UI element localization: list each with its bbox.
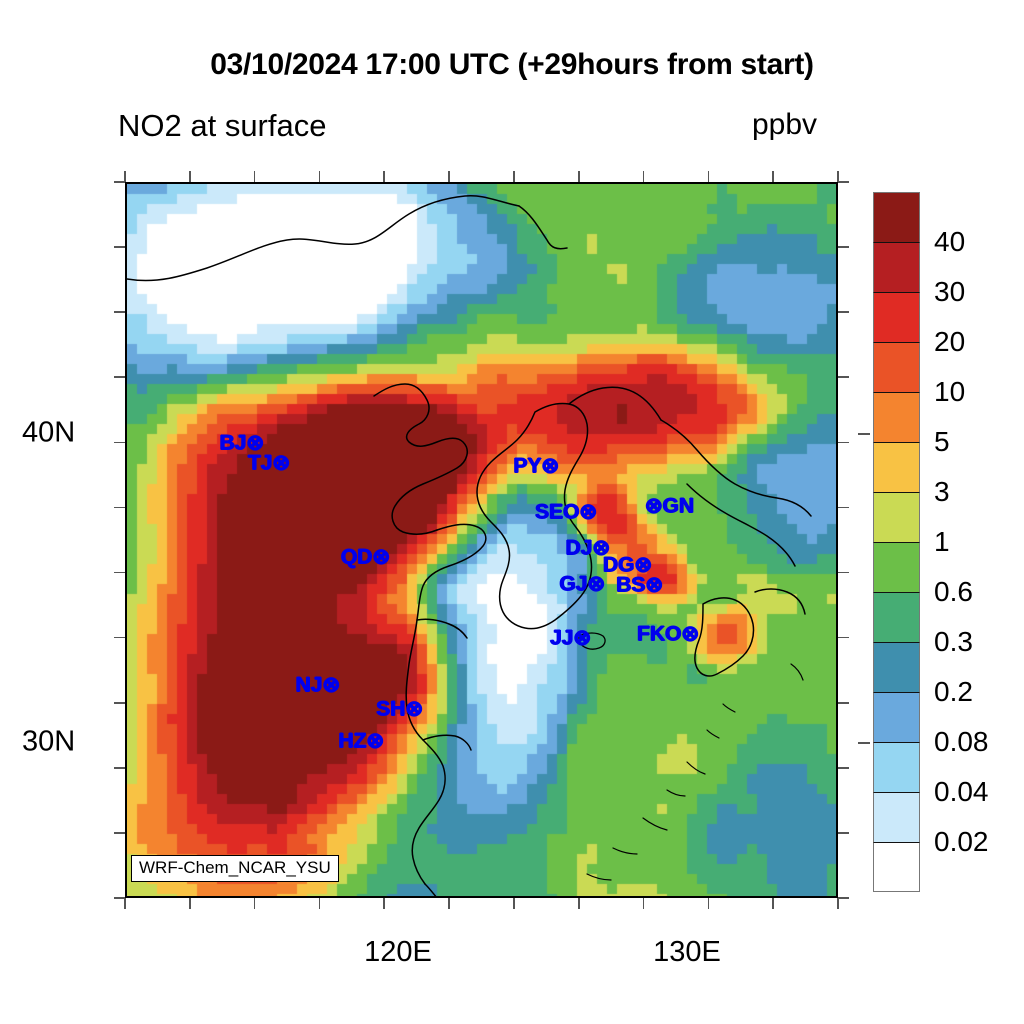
lon-tick <box>513 898 515 909</box>
city-marker-gj: GJ⊗ <box>559 574 605 595</box>
lat-tick-right <box>838 181 849 183</box>
lat-tick <box>114 637 125 639</box>
city-marker-qd: QD⊗ <box>341 547 390 568</box>
colorbar-side-tick <box>858 742 870 744</box>
colorbar-label: 0.02 <box>934 826 989 858</box>
lat-tick-right <box>838 572 849 574</box>
colorbar-band <box>873 692 920 742</box>
colorbar-label: 0.04 <box>934 776 989 808</box>
colorbar-label: 0.6 <box>934 576 973 608</box>
lon-tick-top <box>383 171 385 182</box>
lat-tick <box>114 311 125 313</box>
city-marker-jj: JJ⊗ <box>550 628 591 649</box>
lon-tick <box>772 898 774 909</box>
lat-tick <box>114 897 125 899</box>
colorbar-label: 30 <box>934 276 965 308</box>
city-marker-seo: SEO⊗ <box>535 502 597 523</box>
model-watermark: WRF-Chem_NCAR_YSU <box>131 855 339 882</box>
colorbar-label: 3 <box>934 476 950 508</box>
city-marker-tj: TJ⊗ <box>248 453 290 474</box>
lat-tick <box>114 181 125 183</box>
colorbar-label: 40 <box>934 226 965 258</box>
lat-tick <box>114 442 125 444</box>
colorbar-band <box>873 192 920 242</box>
lat-tick-right <box>838 897 849 899</box>
lat-tick <box>114 572 125 574</box>
lat-tick-right <box>838 767 849 769</box>
colorbar-band <box>873 242 920 292</box>
lon-tick-top <box>319 171 321 182</box>
lon-tick <box>643 898 645 909</box>
lat-tick-right <box>838 376 849 378</box>
lat-tick <box>114 767 125 769</box>
colorbar-label: 0.08 <box>934 726 989 758</box>
colorbar-band <box>873 742 920 792</box>
lon-tick-top <box>189 171 191 182</box>
colorbar-band <box>873 442 920 492</box>
units-label: ppbv <box>752 108 817 142</box>
city-marker-dg: DG⊗ <box>603 555 652 576</box>
colorbar-band <box>873 842 920 892</box>
lon-tick <box>383 898 385 909</box>
city-marker-py: PY⊗ <box>513 456 559 477</box>
lat-tick-right <box>838 832 849 834</box>
city-marker-sh: SH⊗ <box>376 699 423 720</box>
lon-tick <box>189 898 191 909</box>
lat-tick-right <box>838 246 849 248</box>
lon-tick-top <box>513 171 515 182</box>
colorbar-label: 0.2 <box>934 676 973 708</box>
city-marker-hz: HZ⊗ <box>338 731 384 752</box>
lat-tick <box>114 832 125 834</box>
colorbar-band <box>873 792 920 842</box>
lon-tick-top <box>772 171 774 182</box>
colorbar-side-tick <box>858 433 870 435</box>
page-title: 03/10/2024 17:00 UTC (+29hours from star… <box>0 48 1024 82</box>
variable-label: NO2 at surface <box>118 108 326 144</box>
lon-tick <box>578 898 580 909</box>
lon-tick-top <box>448 171 450 182</box>
lon-tick-top <box>254 171 256 182</box>
lat-tick <box>114 246 125 248</box>
lon-tick-top <box>643 171 645 182</box>
lat-tick <box>114 376 125 378</box>
lon-tick-top <box>578 171 580 182</box>
lat-axis-label: 30N <box>22 726 75 759</box>
colorbar-band <box>873 292 920 342</box>
lon-axis-label: 120E <box>364 936 432 969</box>
lat-tick-right <box>838 442 849 444</box>
lon-tick <box>319 898 321 909</box>
colorbar <box>873 192 920 892</box>
lat-tick <box>114 702 125 704</box>
lat-tick <box>114 507 125 509</box>
lat-tick-right <box>838 702 849 704</box>
city-marker-layer: BJ⊗TJ⊗QD⊗NJ⊗SH⊗HZ⊗PY⊗SEO⊗⊗GNDJ⊗DG⊗GJ⊗BS⊗… <box>127 184 838 898</box>
city-marker-gn: ⊗GN <box>645 496 694 517</box>
colorbar-label: 20 <box>934 326 965 358</box>
lon-axis-label: 130E <box>653 936 721 969</box>
colorbar-band <box>873 592 920 642</box>
lat-tick-right <box>838 507 849 509</box>
colorbar-band <box>873 642 920 692</box>
map-panel: BJ⊗TJ⊗QD⊗NJ⊗SH⊗HZ⊗PY⊗SEO⊗⊗GNDJ⊗DG⊗GJ⊗BS⊗… <box>125 182 838 898</box>
colorbar-band <box>873 492 920 542</box>
city-marker-bj: BJ⊗ <box>220 433 264 454</box>
colorbar-label: 10 <box>934 376 965 408</box>
city-marker-nj: NJ⊗ <box>296 675 340 696</box>
lat-axis-label: 40N <box>22 417 75 450</box>
lon-tick <box>837 898 839 909</box>
lon-tick <box>708 898 710 909</box>
colorbar-label: 1 <box>934 526 950 558</box>
map-frame: BJ⊗TJ⊗QD⊗NJ⊗SH⊗HZ⊗PY⊗SEO⊗⊗GNDJ⊗DG⊗GJ⊗BS⊗… <box>125 182 838 898</box>
lon-tick <box>254 898 256 909</box>
city-marker-fko: FKO⊗ <box>637 624 699 645</box>
colorbar-label: 5 <box>934 426 950 458</box>
lat-tick-right <box>838 637 849 639</box>
colorbar-band <box>873 342 920 392</box>
colorbar-band <box>873 392 920 442</box>
city-marker-bs: BS⊗ <box>616 575 663 596</box>
lon-tick-top <box>708 171 710 182</box>
lon-tick <box>124 898 126 909</box>
colorbar-band <box>873 542 920 592</box>
colorbar-label: 0.3 <box>934 626 973 658</box>
lat-tick-right <box>838 311 849 313</box>
lon-tick <box>448 898 450 909</box>
